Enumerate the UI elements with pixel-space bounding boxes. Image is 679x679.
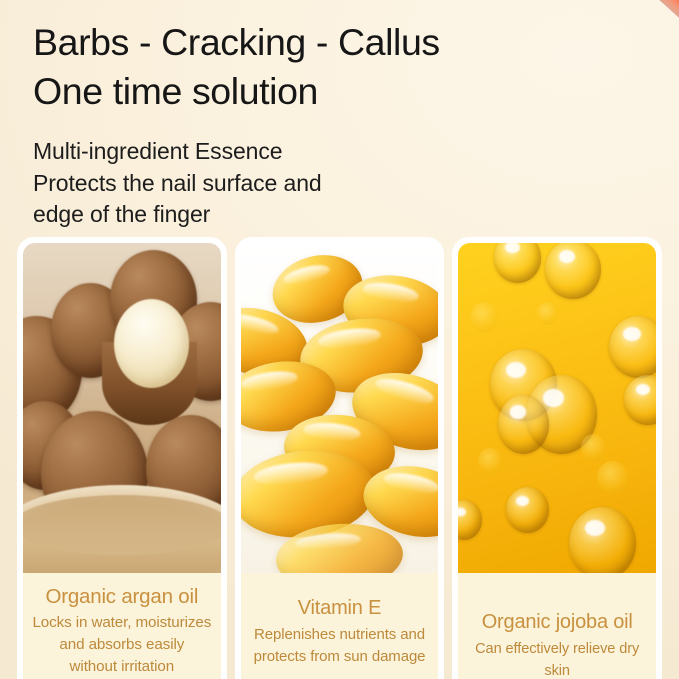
vitamin-e-caption: Vitamin E Replenishes nutrients and prot… bbox=[241, 573, 439, 679]
ingredient-card-vitamin-e[interactable]: Vitamin E Replenishes nutrients and prot… bbox=[235, 237, 445, 679]
header-section: Barbs - Cracking - Callus One time solut… bbox=[0, 0, 679, 240]
pen-body bbox=[596, 0, 679, 86]
argan-oil-caption: Organic argan oil Locks in water, moistu… bbox=[23, 573, 221, 679]
ingredient-title: Organic argan oil bbox=[29, 583, 215, 610]
ingredient-card-jojoba-oil[interactable]: Organic jojoba oil Can effectively relie… bbox=[452, 237, 662, 679]
ingredient-cards-row: Organic argan oil Locks in water, moistu… bbox=[0, 237, 679, 679]
jojoba-oil-caption: Organic jojoba oil Can effectively relie… bbox=[458, 573, 656, 679]
ingredient-title: Vitamin E bbox=[247, 595, 433, 622]
page-subtitle: Multi-ingredient Essence Protects the na… bbox=[33, 136, 433, 231]
ingredient-card-argan-oil[interactable]: Organic argan oil Locks in water, moistu… bbox=[17, 237, 227, 679]
product-infographic-page: Barbs - Cracking - Callus One time solut… bbox=[0, 0, 679, 679]
ingredient-description: Can effectively relieve dry skin bbox=[464, 638, 650, 679]
ingredient-title: Organic jojoba oil bbox=[464, 609, 650, 636]
oil-bubbles-photo bbox=[458, 243, 656, 573]
ingredient-description: Replenishes nutrients and protects from … bbox=[247, 624, 433, 668]
ingredient-description: Locks in water, moisturizes and absorbs … bbox=[29, 612, 215, 678]
macadamia-nuts-photo bbox=[23, 243, 221, 573]
page-title: Barbs - Cracking - Callus One time solut… bbox=[33, 18, 553, 116]
softgel-capsules-photo bbox=[241, 243, 439, 573]
